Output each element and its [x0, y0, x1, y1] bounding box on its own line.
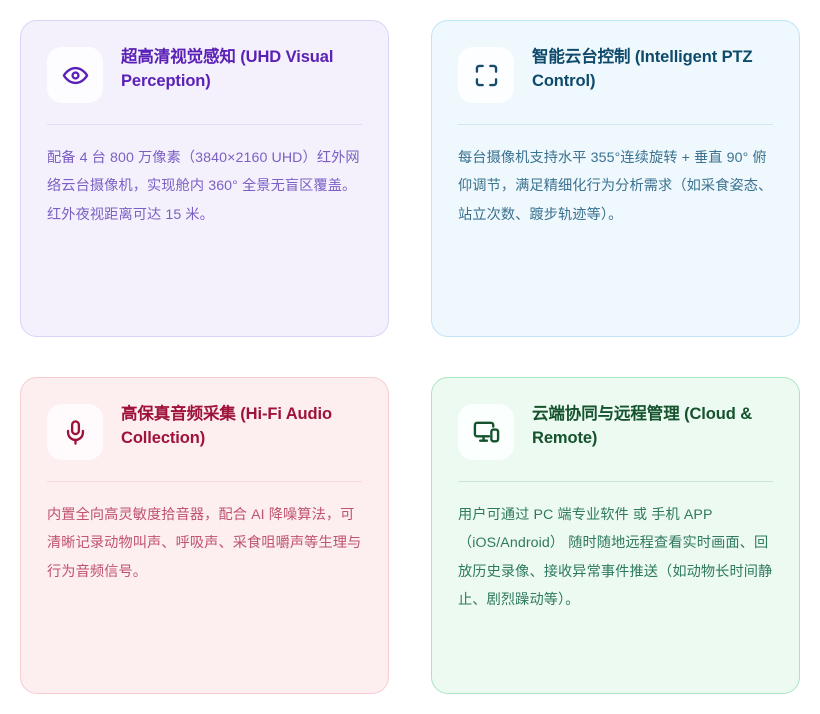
card-divider [458, 124, 773, 125]
card-body: 用户可通过 PC 端专业软件 或 手机 APP（iOS/Android） 随时随… [458, 501, 773, 615]
focus-frame-icon [458, 47, 514, 103]
feature-card-hifi-audio-collection[interactable]: 高保真音频采集 (Hi-Fi Audio Collection) 内置全向高灵敏… [20, 377, 389, 694]
card-title: 智能云台控制 (Intelligent PTZ Control) [532, 45, 773, 94]
card-title: 云端协同与远程管理 (Cloud & Remote) [532, 402, 773, 451]
feature-card-uhd-visual-perception[interactable]: 超高清视觉感知 (UHD Visual Perception) 配备 4 台 8… [20, 20, 389, 337]
card-divider [47, 481, 362, 482]
card-divider [458, 481, 773, 482]
card-header: 高保真音频采集 (Hi-Fi Audio Collection) [47, 402, 362, 460]
card-header: 智能云台控制 (Intelligent PTZ Control) [458, 45, 773, 103]
card-title: 高保真音频采集 (Hi-Fi Audio Collection) [121, 402, 362, 451]
devices-monitor-phone-icon [458, 404, 514, 460]
card-body: 配备 4 台 800 万像素（3840×2160 UHD）红外网络云台摄像机，实… [47, 144, 362, 229]
card-title: 超高清视觉感知 (UHD Visual Perception) [121, 45, 362, 94]
feature-card-intelligent-ptz-control[interactable]: 智能云台控制 (Intelligent PTZ Control) 每台摄像机支持… [431, 20, 800, 337]
card-header: 超高清视觉感知 (UHD Visual Perception) [47, 45, 362, 103]
card-body: 内置全向高灵敏度拾音器，配合 AI 降噪算法，可清晰记录动物叫声、呼吸声、采食咀… [47, 501, 362, 586]
feature-card-cloud-and-remote-management[interactable]: 云端协同与远程管理 (Cloud & Remote) 用户可通过 PC 端专业软… [431, 377, 800, 694]
feature-card-grid: 超高清视觉感知 (UHD Visual Perception) 配备 4 台 8… [0, 0, 820, 714]
card-header: 云端协同与远程管理 (Cloud & Remote) [458, 402, 773, 460]
card-divider [47, 124, 362, 125]
microphone-icon [47, 404, 103, 460]
card-body: 每台摄像机支持水平 355°连续旋转 + 垂直 90° 俯仰调节，满足精细化行为… [458, 144, 773, 229]
eye-icon [47, 47, 103, 103]
